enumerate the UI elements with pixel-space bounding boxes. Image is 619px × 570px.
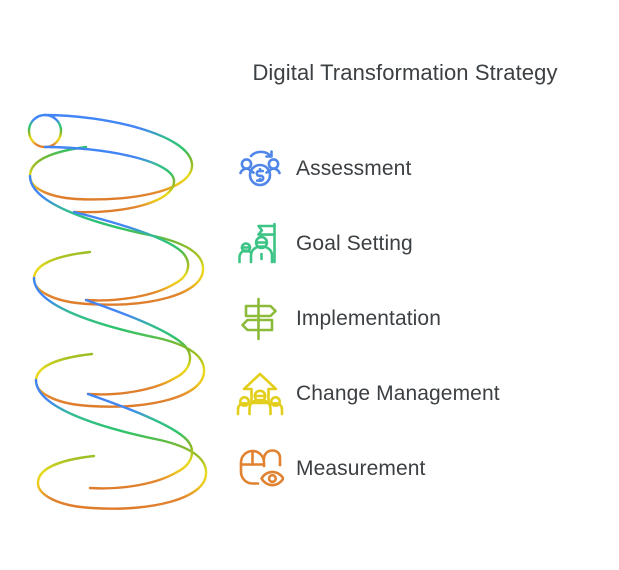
coil-turn-1-inner bbox=[45, 147, 174, 212]
step-label-measurement: Measurement bbox=[296, 457, 426, 481]
spiral-svg bbox=[14, 106, 214, 516]
page-title: Digital Transformation Strategy bbox=[215, 60, 595, 86]
mouse-eye-icon bbox=[232, 441, 288, 497]
coil-turn-3-inner bbox=[86, 300, 190, 394]
signpost-direction-icon bbox=[232, 291, 288, 347]
coil-strokes bbox=[29, 115, 206, 509]
step-item-goal-setting[interactable]: Goal Setting bbox=[232, 213, 612, 275]
coil-turn-2-inner bbox=[74, 212, 188, 300]
steps-list: Assessment Goal Setting bbox=[232, 138, 612, 513]
spiral-illustration bbox=[14, 106, 214, 516]
step-item-implementation[interactable]: Implementation bbox=[232, 288, 612, 350]
step-label-assessment: Assessment bbox=[296, 157, 411, 181]
step-item-assessment[interactable]: Assessment bbox=[232, 138, 612, 200]
step-item-change-management[interactable]: Change Management bbox=[232, 363, 612, 425]
step-label-change-management: Change Management bbox=[296, 382, 500, 406]
step-item-measurement[interactable]: Measurement bbox=[232, 438, 612, 500]
coil-turn-1-outer bbox=[30, 115, 192, 199]
money-assessment-icon bbox=[232, 141, 288, 197]
flag-goal-icon bbox=[232, 216, 288, 272]
coil-turn-3 bbox=[34, 278, 204, 407]
coil-start-cap bbox=[29, 115, 61, 147]
infographic-canvas: Digital Transformation Strategy bbox=[0, 0, 619, 570]
arrow-up-people-icon bbox=[232, 366, 288, 422]
step-label-goal-setting: Goal Setting bbox=[296, 232, 413, 256]
step-label-implementation: Implementation bbox=[296, 307, 441, 331]
coil-turn-4-inner bbox=[88, 394, 192, 488]
coil-turn-4 bbox=[36, 380, 206, 509]
